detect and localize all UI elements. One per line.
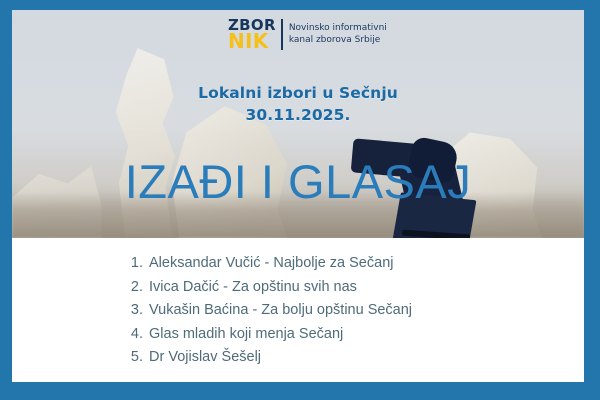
zbornik-logo: ZBOR NIK Novinsko informativni kanal zbo… — [228, 18, 387, 51]
event-title: Lokalni izbori u Sečnju 30.11.2025. — [12, 82, 584, 126]
logo-nik-text: NIK — [228, 31, 276, 51]
election-poster: ZBOR NIK Novinsko informativni kanal zbo… — [0, 0, 600, 400]
list-item: Glas mladih koji menja Sečanj — [123, 323, 584, 347]
logo-wordmark: ZBOR NIK — [228, 18, 281, 51]
list-item: Aleksandar Vučić - Najbolje za Sečanj — [123, 252, 584, 276]
event-date: 30.11.2025. — [12, 104, 584, 126]
hero-image: ZBOR NIK Novinsko informativni kanal zbo… — [12, 10, 584, 238]
event-title-line1: Lokalni izbori u Sečnju — [12, 82, 584, 104]
logo-tagline: Novinsko informativni kanal zborova Srbi… — [289, 18, 387, 51]
logo-divider — [281, 19, 283, 50]
list-item: Ivica Dačić - Za opštinu svih nas — [123, 276, 584, 300]
list-item: Dr Vojislav Šešelj — [123, 346, 584, 370]
candidate-list: Aleksandar Vučić - Najbolje za Sečanj Iv… — [12, 252, 584, 370]
candidate-list-panel: Aleksandar Vučić - Najbolje za Sečanj Iv… — [12, 238, 584, 382]
poster-inner: ZBOR NIK Novinsko informativni kanal zbo… — [12, 10, 584, 382]
logo-tagline-line1: Novinsko informativni — [289, 23, 387, 35]
headline-call-to-vote: IZAĐI I GLASAJ — [12, 158, 584, 205]
logo-tagline-line2: kanal zborova Srbije — [289, 35, 387, 47]
list-item: Vukašin Baćina - Za bolju opštinu Sečanj — [123, 299, 584, 323]
